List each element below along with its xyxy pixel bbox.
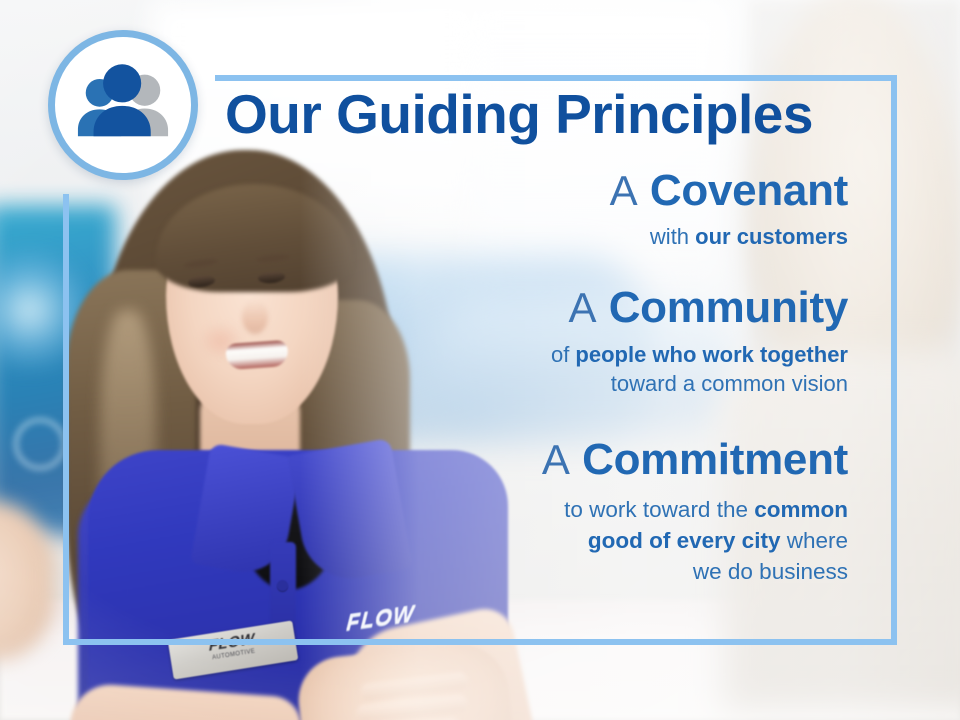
principle-heading: A Covenant [180, 166, 848, 215]
text-normal: to work toward the [564, 497, 754, 522]
principle-keyword: Covenant [650, 166, 848, 215]
principles-text-block: Our Guiding Principles A Covenant with o… [180, 86, 870, 587]
text-bold: people who work together [575, 342, 848, 367]
text-normal: toward a common vision [611, 371, 848, 396]
text-bold: common [754, 497, 848, 522]
text-bold: good of every city [588, 528, 781, 553]
principle-description: to work toward the common good of every … [180, 494, 848, 587]
principle-article: A [542, 436, 570, 483]
principle-description: with our customers [180, 222, 848, 251]
text-bold: our customers [695, 224, 848, 249]
people-group-badge [48, 30, 198, 180]
principle-line: we do business [180, 556, 848, 587]
principle-line: to work toward the common [180, 494, 848, 525]
principle-keyword: Community [609, 283, 848, 332]
guiding-principles-graphic: FLOW FLOW AUTOMOTIVE [0, 0, 960, 720]
text-normal: with [650, 224, 695, 249]
principle-keyword: Commitment [582, 435, 848, 484]
principle-line: of people who work together [180, 340, 848, 369]
principle-line: good of every city where [180, 525, 848, 556]
page-title: Our Guiding Principles [180, 86, 870, 144]
principle-heading: A Commitment [180, 435, 848, 484]
principle-community: A Community of people who work together … [180, 283, 870, 398]
principle-article: A [568, 284, 596, 331]
principle-line: with our customers [180, 222, 848, 251]
principle-covenant: A Covenant with our customers [180, 166, 870, 252]
text-normal: we do business [693, 559, 848, 584]
principle-heading: A Community [180, 283, 848, 332]
text-normal: where [780, 528, 848, 553]
text-normal: of [551, 342, 575, 367]
principle-line: toward a common vision [180, 369, 848, 398]
display-panel-logo [14, 418, 66, 470]
principle-article: A [610, 167, 638, 214]
people-group-icon [71, 53, 175, 157]
principle-description: of people who work together toward a com… [180, 340, 848, 399]
principle-commitment: A Commitment to work toward the common g… [180, 435, 870, 587]
